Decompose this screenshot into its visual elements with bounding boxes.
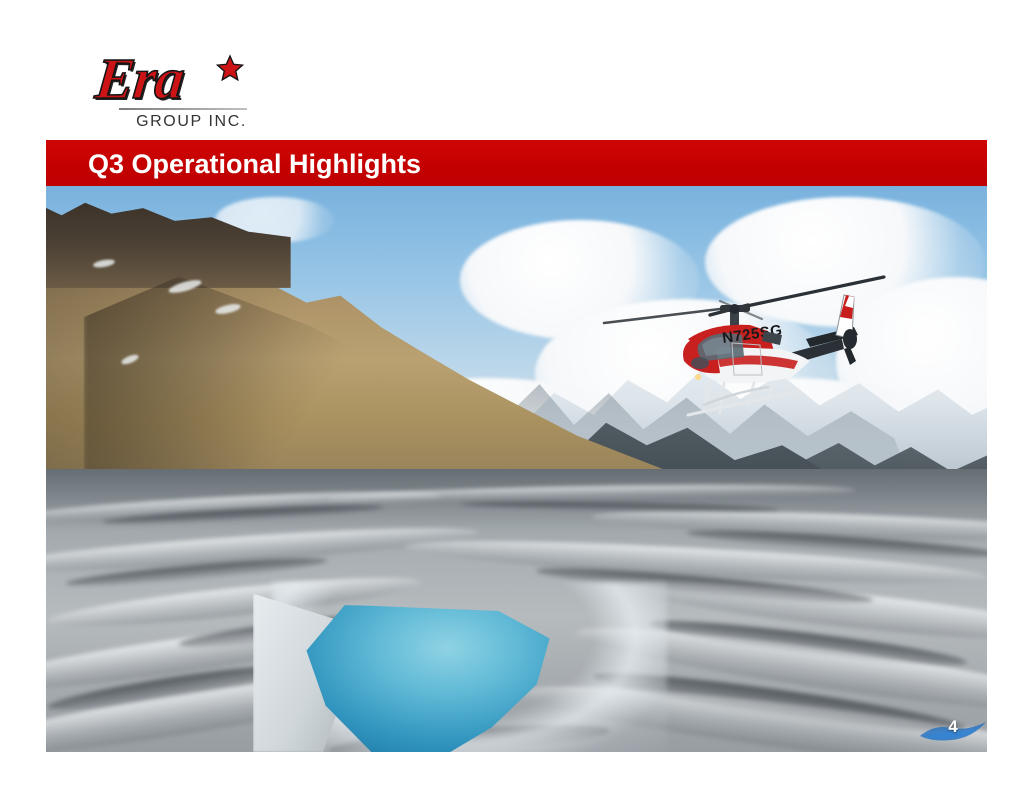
page-number: 4 xyxy=(918,717,987,737)
star-icon xyxy=(215,54,245,84)
logo-divider xyxy=(119,108,247,110)
logo-subtitle: GROUP INC. xyxy=(124,113,259,131)
page-title: Q3 Operational Highlights xyxy=(88,149,421,180)
slide-photo: N725SG xyxy=(46,186,987,752)
logo-wordmark: Era xyxy=(93,50,186,108)
page-number-badge: 4 xyxy=(918,714,987,748)
era-group-logo: Era GROUP INC. xyxy=(96,50,256,135)
title-banner: Q3 Operational Highlights xyxy=(46,140,987,186)
slide: Era GROUP INC. Q3 Operational Highlights xyxy=(0,0,1034,799)
helicopter: N725SG xyxy=(592,265,892,455)
